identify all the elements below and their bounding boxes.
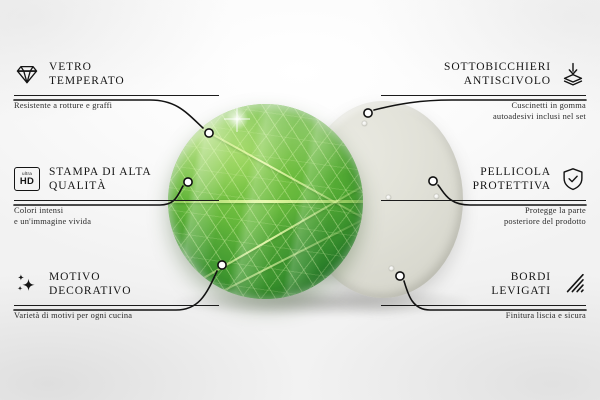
- feature-sottobicchieri-antiscivolo[interactable]: SOTTOBICCHIERI ANTISCIVOLO Cuscinetti in…: [381, 57, 586, 122]
- glass-sparkle-icon: [224, 106, 250, 132]
- feature-title: MOTIVO DECORATIVO: [49, 270, 131, 298]
- feature-stampa-di-alta-qualita[interactable]: ultra HD STAMPA DI ALTA QUALITÀ Colori i…: [14, 162, 219, 227]
- feature-divider: [14, 200, 219, 201]
- feature-subtitle: Protegge la parte posteriore del prodott…: [381, 205, 586, 227]
- feature-subtitle: Resistente a rotture e graffi: [14, 100, 219, 111]
- shield-check-icon: [560, 166, 586, 192]
- feature-title: STAMPA DI ALTA QUALITÀ: [49, 165, 152, 193]
- feature-bordi-levigati[interactable]: BORDI LEVIGATI Finitura liscia e sicura: [381, 267, 586, 321]
- feature-title: PELLICOLA PROTETTIVA: [473, 165, 551, 193]
- marker-motivo: [218, 261, 226, 269]
- feature-header: SOTTOBICCHIERI ANTISCIVOLO: [381, 57, 586, 91]
- feature-header: ultra HD STAMPA DI ALTA QUALITÀ: [14, 162, 219, 196]
- feature-pellicola-protettiva[interactable]: PELLICOLA PROTETTIVA Protegge la parte p…: [381, 162, 586, 227]
- infographic-canvas: VETRO TEMPERATO Resistente a rotture e g…: [0, 0, 600, 400]
- feature-header: MOTIVO DECORATIVO: [14, 267, 219, 301]
- feature-divider: [381, 200, 586, 201]
- feature-divider: [14, 305, 219, 306]
- marker-sottobicchieri: [364, 109, 372, 117]
- sparkles-icon: [14, 271, 40, 297]
- feature-motivo-decorativo[interactable]: MOTIVO DECORATIVO Varietà di motivi per …: [14, 267, 219, 321]
- marker-vetro-temperato: [205, 129, 213, 137]
- feature-subtitle: Cuscinetti in gomma autoadesivi inclusi …: [381, 100, 586, 122]
- rubber-pad-top: [362, 121, 367, 126]
- press-pad-icon: [560, 61, 586, 87]
- feature-header: VETRO TEMPERATO: [14, 57, 219, 91]
- ultra-hd-badge-icon: ultra HD: [14, 167, 40, 191]
- feature-subtitle: Varietà di motivi per ogni cucina: [14, 310, 219, 321]
- feature-divider: [381, 95, 586, 96]
- feature-divider: [14, 95, 219, 96]
- feature-title: SOTTOBICCHIERI ANTISCIVOLO: [444, 60, 551, 88]
- feature-subtitle: Finitura liscia e sicura: [381, 310, 586, 321]
- diamond-icon: [14, 61, 40, 87]
- feature-subtitle: Colori intensi e un'immagine vivida: [14, 205, 219, 227]
- feature-divider: [381, 305, 586, 306]
- feature-header: BORDI LEVIGATI: [381, 267, 586, 301]
- feature-vetro-temperato[interactable]: VETRO TEMPERATO Resistente a rotture e g…: [14, 57, 219, 111]
- feature-title: BORDI LEVIGATI: [491, 270, 551, 298]
- feature-title: VETRO TEMPERATO: [49, 60, 125, 88]
- feature-header: PELLICOLA PROTETTIVA: [381, 162, 586, 196]
- diagonal-lines-icon: [560, 271, 586, 297]
